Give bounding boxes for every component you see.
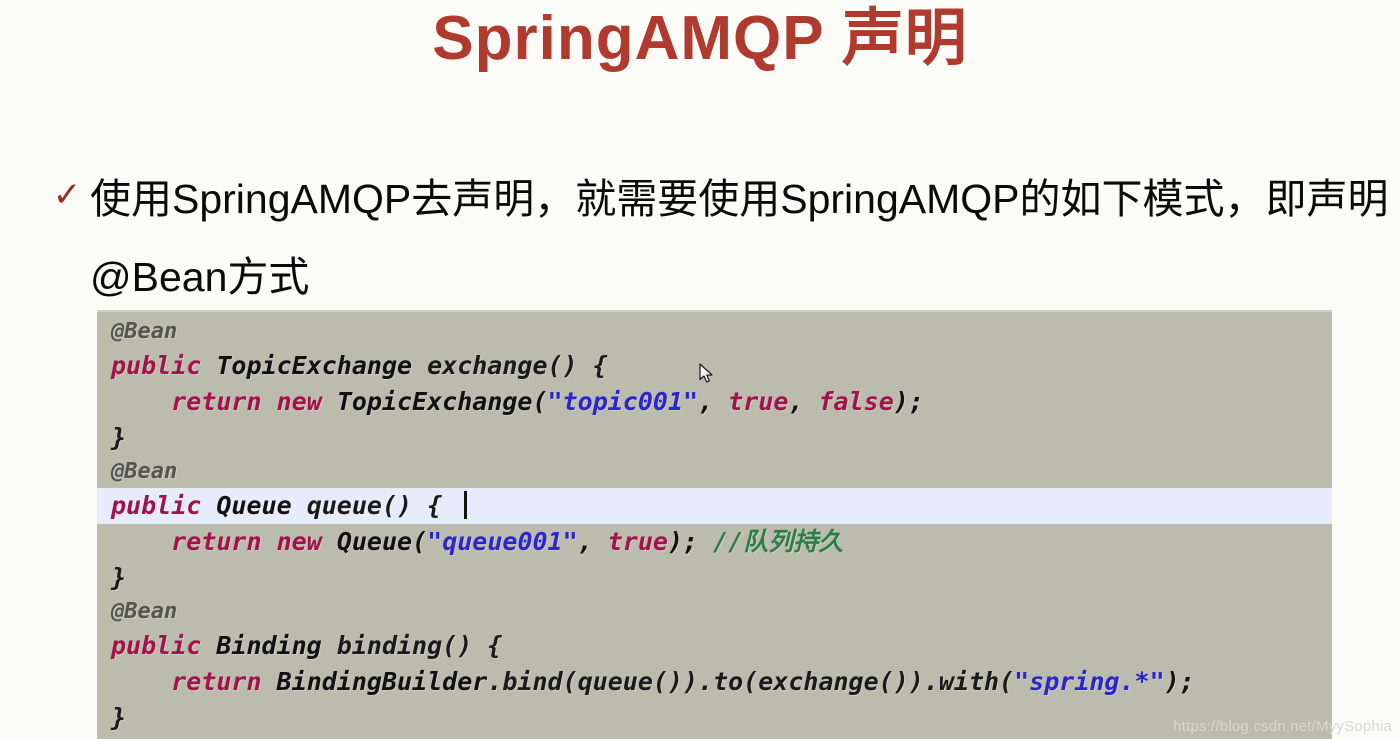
brace-close: } — [111, 703, 126, 732]
code-line[interactable]: @Bean — [97, 316, 1332, 348]
open-paren: ( — [412, 527, 427, 556]
type-bindingbuilder: BindingBuilder — [262, 667, 488, 696]
code-line[interactable]: @Bean — [97, 596, 1332, 628]
comma: , — [578, 527, 608, 556]
annotation-bean: @Bean — [111, 319, 177, 344]
type-queue: Queue — [201, 491, 291, 520]
space — [262, 527, 277, 556]
code-line-highlighted[interactable]: public Queue queue() { — [97, 488, 1332, 524]
code-line[interactable]: } — [97, 560, 1332, 596]
brace-close: } — [111, 423, 126, 452]
semicolon: ); — [668, 527, 698, 556]
string-queue001: "queue001" — [427, 527, 578, 556]
space — [262, 387, 277, 416]
annotation-bean: @Bean — [111, 459, 177, 484]
indent — [111, 527, 171, 556]
comma: , — [788, 387, 818, 416]
keyword-true: true — [728, 387, 788, 416]
keyword-return: return — [171, 527, 261, 556]
open-paren: ( — [532, 387, 547, 416]
code-line[interactable]: return BindingBuilder.bind(queue()).to(e… — [97, 664, 1332, 700]
text-caret — [464, 491, 467, 519]
comment-queue-durable: //队列持久 — [713, 527, 843, 556]
indent — [111, 387, 171, 416]
keyword-public: public — [111, 351, 201, 380]
type-binding: Binding — [201, 631, 321, 660]
type-queue-ctor: Queue — [322, 527, 412, 556]
keyword-new: new — [277, 527, 322, 556]
keyword-return: return — [171, 387, 261, 416]
bullet-text: 使用SpringAMQP去声明，就需要使用SpringAMQP的如下模式，即声明… — [90, 160, 1394, 316]
string-spring-wildcard: "spring.*" — [1014, 667, 1165, 696]
checkmark-icon: ✓ — [44, 160, 90, 230]
method-exchange: exchange() { — [412, 351, 608, 380]
bullet-row: ✓ 使用SpringAMQP去声明，就需要使用SpringAMQP的如下模式，即… — [44, 160, 1394, 316]
brace-close: } — [111, 563, 126, 592]
keyword-public: public — [111, 491, 201, 520]
semicolon: ); — [894, 387, 924, 416]
code-line[interactable]: return new Queue("queue001", true); //队列… — [97, 524, 1332, 560]
keyword-return: return — [171, 667, 261, 696]
keyword-false: false — [819, 387, 894, 416]
code-line[interactable]: } — [97, 420, 1332, 456]
semicolon: ); — [1165, 667, 1195, 696]
chain-bind-to-with: .bind(queue()).to(exchange()).with( — [487, 667, 1014, 696]
type-topicexchange-ctor: TopicExchange — [322, 387, 533, 416]
type-topicexchange: TopicExchange — [201, 351, 412, 380]
code-line[interactable]: } — [97, 700, 1332, 736]
string-topic001: "topic001" — [548, 387, 699, 416]
indent — [111, 667, 171, 696]
keyword-public: public — [111, 631, 201, 660]
space — [698, 527, 713, 556]
annotation-bean: @Bean — [111, 599, 177, 624]
method-binding: binding() { — [322, 631, 503, 660]
watermark: https://blog.csdn.net/MyySophia — [1173, 718, 1392, 735]
code-line[interactable]: public TopicExchange exchange() { — [97, 348, 1332, 384]
code-line[interactable]: public Binding binding() { — [97, 628, 1332, 664]
method-queue: queue() { — [292, 491, 443, 520]
page-title: SpringAMQP 声明 — [0, 2, 1400, 76]
comma: , — [698, 387, 728, 416]
keyword-new: new — [277, 387, 322, 416]
code-block[interactable]: @Bean public TopicExchange exchange() { … — [97, 310, 1332, 739]
keyword-true: true — [608, 527, 668, 556]
code-line[interactable]: return new TopicExchange("topic001", tru… — [97, 384, 1332, 420]
code-line[interactable]: @Bean — [97, 456, 1332, 488]
